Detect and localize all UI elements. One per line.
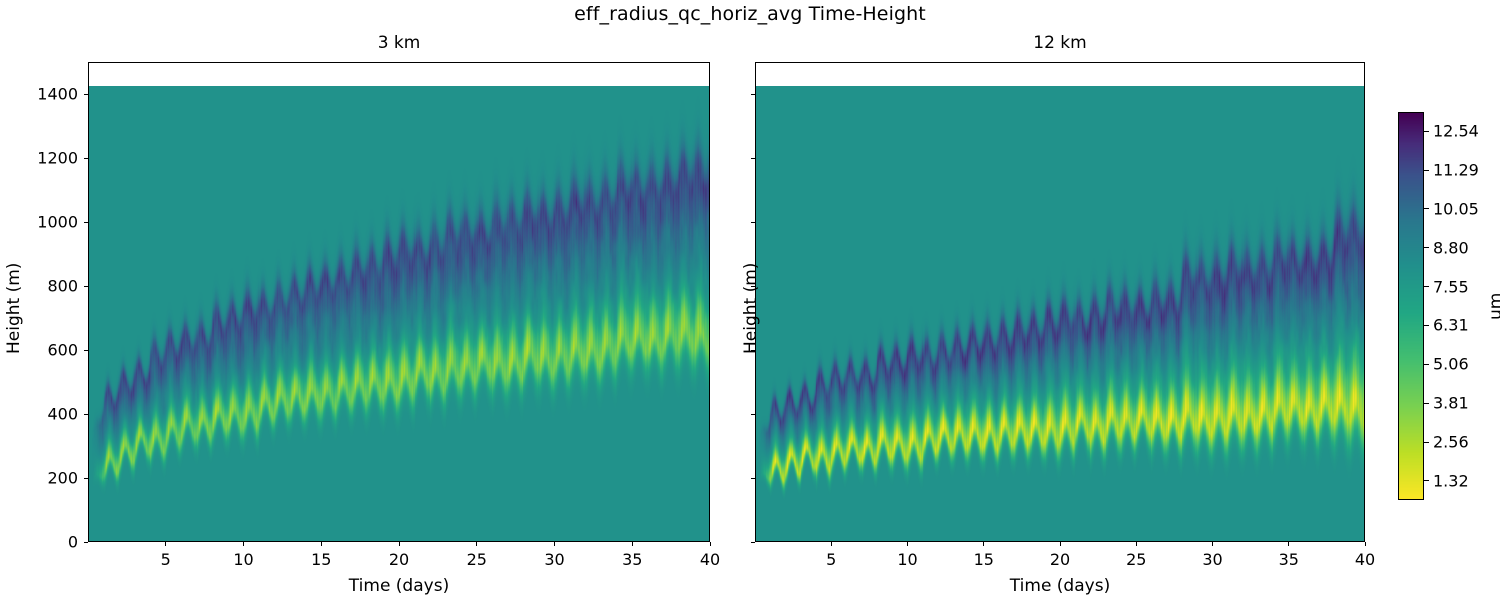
colorbar-tick-label: 11.29 <box>1433 161 1479 180</box>
colorbar-tick-label: 8.80 <box>1433 238 1469 257</box>
ytick-mark <box>84 542 88 543</box>
ytick-mark <box>84 286 88 287</box>
xtick-mark <box>632 542 633 546</box>
x-axis-label: Time (days) <box>755 576 1365 596</box>
colorbar-gradient <box>1398 112 1424 500</box>
xtick-mark <box>321 542 322 546</box>
axes-frame-3km <box>88 62 710 542</box>
xtick-label: 40 <box>700 550 720 569</box>
ytick-label: 1200 <box>10 149 78 168</box>
ytick-mark <box>84 158 88 159</box>
ytick-label: 1000 <box>10 213 78 232</box>
xtick-mark <box>1288 542 1289 546</box>
colorbar-tick-mark <box>1424 208 1429 209</box>
xtick-mark <box>1365 542 1366 546</box>
colorbar-tick-label: 6.31 <box>1433 316 1469 335</box>
xtick-label: 10 <box>233 550 253 569</box>
panel-3km: 3 km <box>88 62 710 542</box>
colorbar-tick-mark <box>1424 403 1429 404</box>
ytick-mark <box>84 478 88 479</box>
colorbar-tick-label: 1.32 <box>1433 471 1469 490</box>
xtick-mark <box>476 542 477 546</box>
ytick-mark <box>751 414 755 415</box>
xtick-label: 10 <box>897 550 917 569</box>
x-axis-label: Time (days) <box>88 576 710 596</box>
colorbar-tick-label: 10.05 <box>1433 199 1479 218</box>
axes-frame-12km <box>755 62 1365 542</box>
colorbar-tick-label: 3.81 <box>1433 394 1469 413</box>
ytick-mark <box>751 542 755 543</box>
xtick-mark <box>243 542 244 546</box>
xtick-label: 5 <box>161 550 171 569</box>
xtick-label: 20 <box>389 550 409 569</box>
xtick-mark <box>1212 542 1213 546</box>
ytick-mark <box>751 94 755 95</box>
ytick-mark <box>84 222 88 223</box>
xtick-label: 30 <box>1202 550 1222 569</box>
ytick-mark <box>751 478 755 479</box>
colorbar-tick-mark <box>1424 442 1429 443</box>
colorbar-tick-mark <box>1424 247 1429 248</box>
xtick-label: 25 <box>467 550 487 569</box>
y-axis-label: Height (m) <box>4 263 24 354</box>
panel-12km-title: 12 km <box>755 33 1365 53</box>
xtick-label: 40 <box>1355 550 1375 569</box>
xtick-mark <box>831 542 832 546</box>
colorbar-tick-mark <box>1424 286 1429 287</box>
ytick-mark <box>84 414 88 415</box>
xtick-label: 30 <box>544 550 564 569</box>
xtick-mark <box>907 542 908 546</box>
ytick-label: 200 <box>10 469 78 488</box>
xtick-mark <box>710 542 711 546</box>
xtick-label: 15 <box>974 550 994 569</box>
xtick-mark <box>554 542 555 546</box>
colorbar-tick-mark <box>1424 170 1429 171</box>
xtick-label: 35 <box>1279 550 1299 569</box>
xtick-label: 25 <box>1126 550 1146 569</box>
colorbar-tick-mark <box>1424 364 1429 365</box>
colorbar-tick-mark <box>1424 480 1429 481</box>
ytick-mark <box>751 222 755 223</box>
ytick-mark <box>84 94 88 95</box>
colorbar-tick-label: 2.56 <box>1433 433 1469 452</box>
xtick-mark <box>983 542 984 546</box>
xtick-label: 35 <box>622 550 642 569</box>
xtick-mark <box>1060 542 1061 546</box>
colorbar-tick-mark <box>1424 131 1429 132</box>
colorbar <box>1398 112 1424 500</box>
figure-canvas: eff_radius_qc_horiz_avg Time-Height 3 km… <box>0 0 1500 600</box>
xtick-label: 15 <box>311 550 331 569</box>
colorbar-tick-label: 5.06 <box>1433 355 1469 374</box>
colorbar-tick-mark <box>1424 325 1429 326</box>
ytick-mark <box>84 350 88 351</box>
xtick-label: 20 <box>1050 550 1070 569</box>
y-axis-label: Height (m) <box>741 263 761 354</box>
xtick-mark <box>399 542 400 546</box>
xtick-mark <box>1136 542 1137 546</box>
colorbar-tick-label: 12.54 <box>1433 122 1479 141</box>
panel-3km-title: 3 km <box>88 33 710 53</box>
panel-12km: 12 km <box>755 62 1365 542</box>
colorbar-tick-label: 7.55 <box>1433 277 1469 296</box>
ytick-label: 0 <box>10 533 78 552</box>
ytick-mark <box>751 158 755 159</box>
ytick-label: 1400 <box>10 85 78 104</box>
xtick-label: 5 <box>826 550 836 569</box>
xtick-mark <box>165 542 166 546</box>
colorbar-title: um <box>1486 293 1500 320</box>
figure-suptitle: eff_radius_qc_horiz_avg Time-Height <box>0 3 1500 25</box>
ytick-label: 400 <box>10 405 78 424</box>
